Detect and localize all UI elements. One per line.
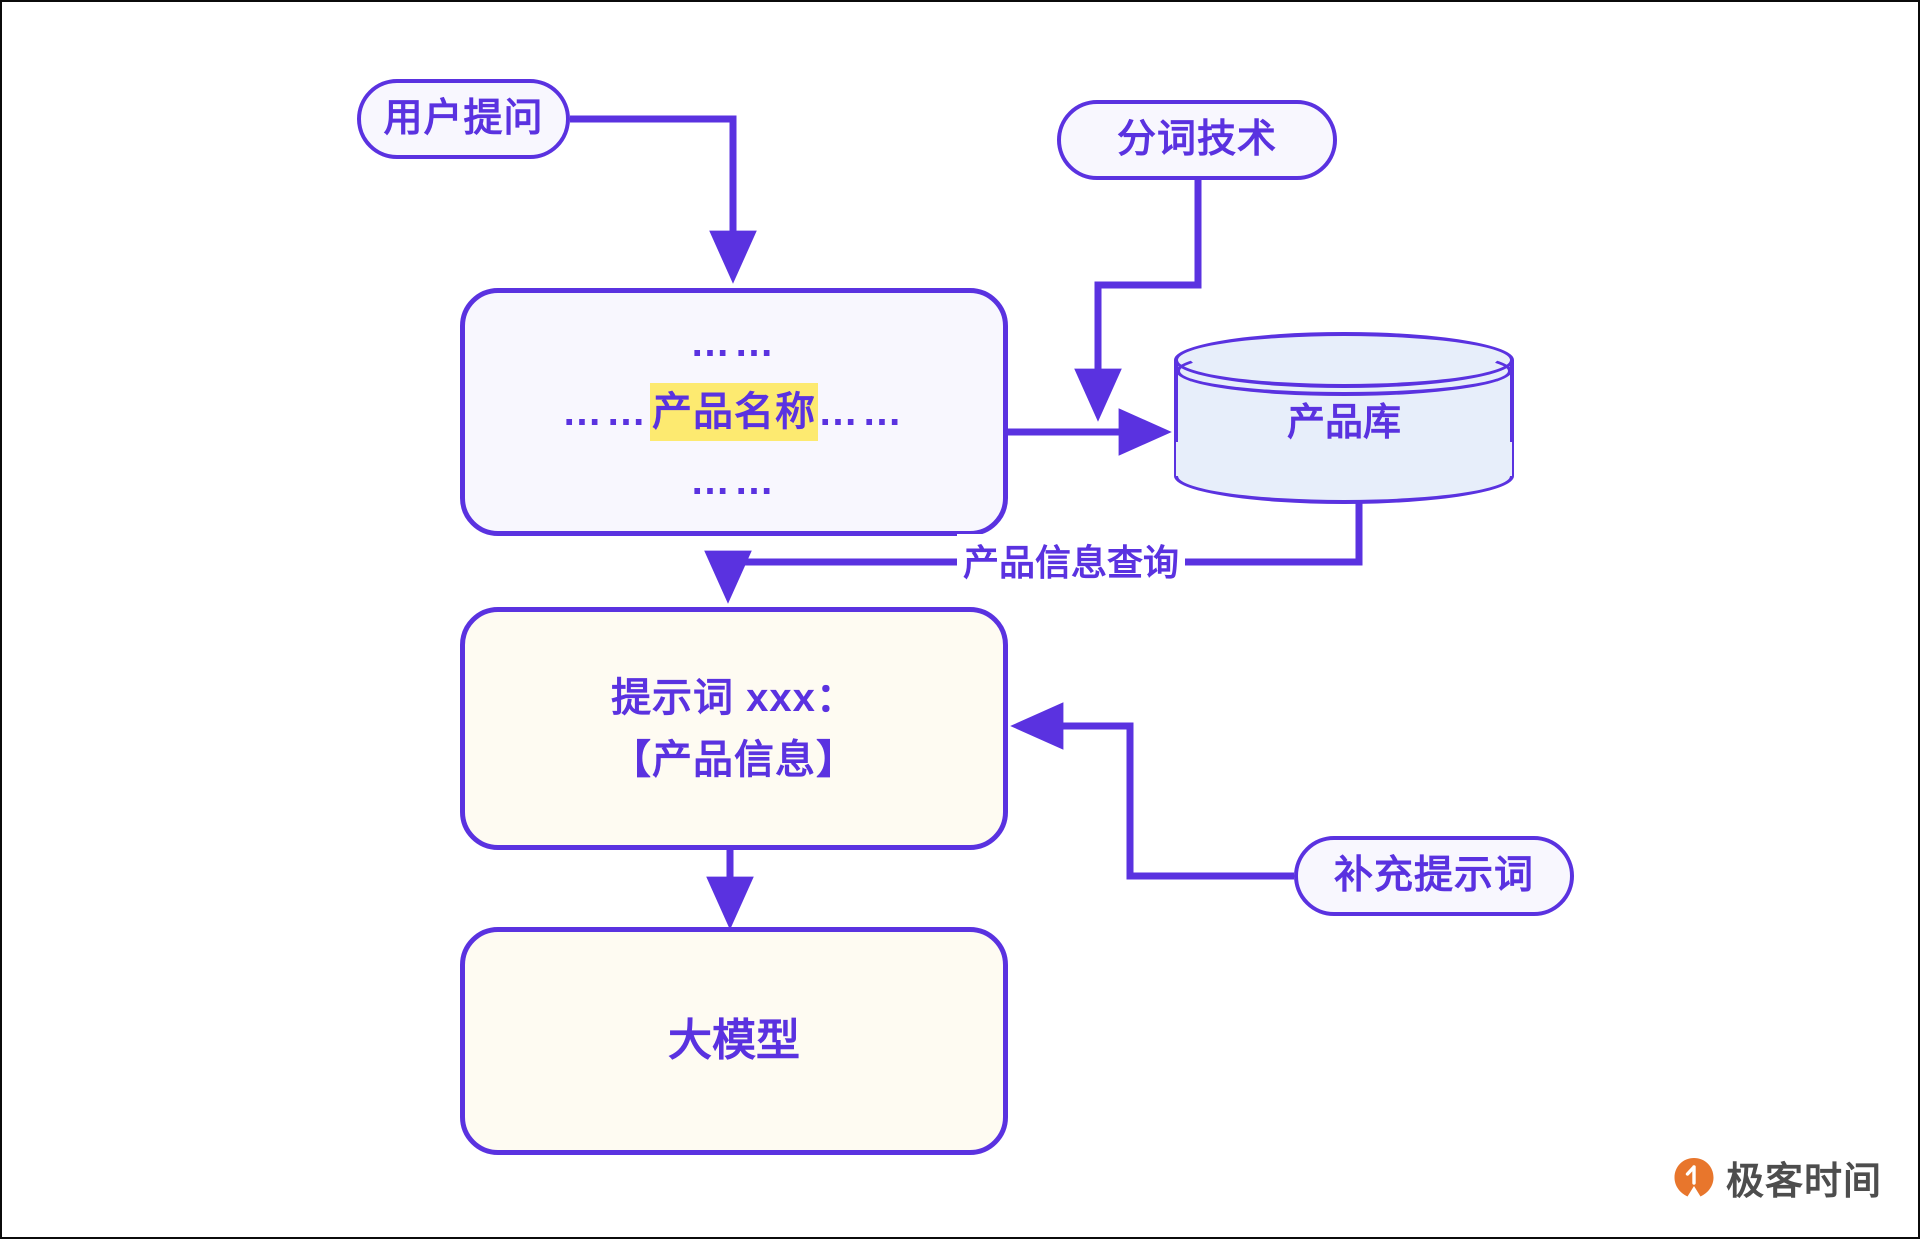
query-box-mid-prefix: …… [562,392,650,432]
edge-label-product-query-text: 产品信息查询 [963,542,1179,583]
query-box-highlight-product-name: 产品名称 [650,383,818,441]
query-box-line-top: …… [690,323,778,363]
node-supplement-prompt-label: 补充提示词 [1334,850,1534,903]
node-user-question[interactable]: 用户提问 [357,79,570,159]
query-box-line-mid: …… 产品名称 …… [562,383,906,441]
edge-user-question-to-query-box [570,119,733,274]
node-product-db[interactable]: 产品库 [1174,332,1514,504]
node-prompt-box-text: 提示词 xxx： 【产品信息】 [611,663,857,795]
node-llm[interactable]: 大模型 [460,927,1008,1155]
node-prompt-box-line1: 提示词 xxx： [611,671,857,725]
node-product-db-label: 产品库 [1287,391,1401,446]
node-llm-label: 大模型 [668,1011,800,1070]
node-product-db-label-wrap: 产品库 [1174,332,1514,504]
edge-label-product-query: 产品信息查询 [957,534,1185,586]
diagram-canvas: 用户提问 分词技术 …… …… 产品名称 …… …… 产品库 产品信息查询 提示… [0,0,1920,1239]
watermark-geektime: 极客时间 [1672,1150,1882,1205]
edge-supplement-prompt-to-prompt-box [1020,726,1294,876]
query-box-mid-suffix: …… [818,392,906,432]
node-supplement-prompt[interactable]: 补充提示词 [1294,836,1574,916]
node-word-segmentation-label: 分词技术 [1117,114,1277,167]
node-word-segmentation[interactable]: 分词技术 [1057,100,1337,180]
query-box-line-bottom: …… [690,461,778,501]
watermark-text: 极客时间 [1726,1150,1882,1205]
node-user-question-label: 用户提问 [383,93,543,146]
node-prompt-box-line2: 【产品信息】 [611,733,857,787]
node-prompt-box[interactable]: 提示词 xxx： 【产品信息】 [460,607,1008,850]
node-query-box[interactable]: …… …… 产品名称 …… …… [460,288,1008,536]
geektime-logo-icon [1672,1156,1716,1200]
